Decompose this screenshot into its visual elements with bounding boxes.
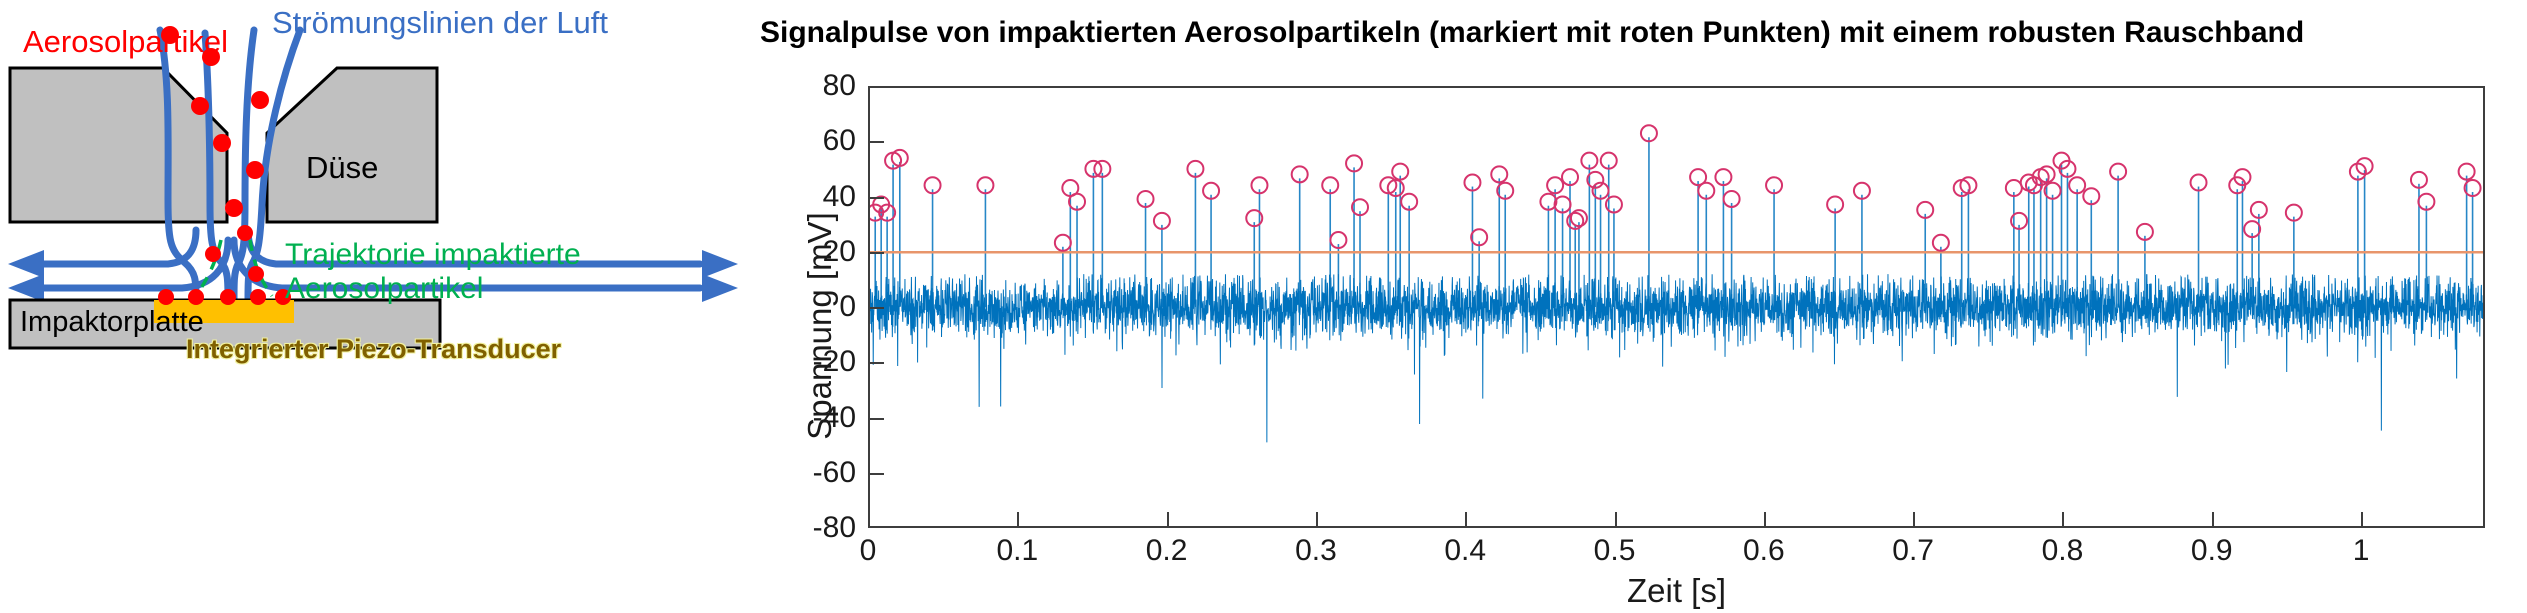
arrow-right-upper bbox=[702, 250, 738, 278]
x-tick-label: 0.7 bbox=[1892, 534, 1934, 568]
y-tick-mark bbox=[868, 307, 884, 309]
nozzle-right-body bbox=[267, 68, 437, 222]
x-tick-mark bbox=[1764, 512, 1766, 528]
arrow-left-lower bbox=[8, 274, 44, 302]
aerosol-particle bbox=[191, 97, 209, 115]
pulse-stems bbox=[875, 137, 2472, 307]
x-tick-mark bbox=[1017, 512, 1019, 528]
aerosol-particle bbox=[188, 289, 204, 305]
x-tick-label: 0.1 bbox=[996, 534, 1038, 568]
aerosol-particle bbox=[251, 91, 269, 109]
label-trajectory-line2: Aerosolpartikel bbox=[285, 272, 483, 306]
noise-signal-trace bbox=[870, 274, 2483, 442]
x-tick-label: 0.8 bbox=[2042, 534, 2084, 568]
chart-title: Signalpulse von impaktierten Aerosolpart… bbox=[760, 16, 2527, 50]
x-tick-label: 0.9 bbox=[2191, 534, 2233, 568]
x-tick-mark bbox=[2361, 512, 2363, 528]
x-tick-label: 0.4 bbox=[1444, 534, 1486, 568]
y-axis-label: Spannung [mV] bbox=[801, 116, 839, 536]
y-tick-mark bbox=[868, 362, 884, 364]
x-tick-mark bbox=[2212, 512, 2214, 528]
x-axis-label: Zeit [s] bbox=[868, 572, 2485, 610]
x-tick-mark bbox=[1465, 512, 1467, 528]
aerosol-particle bbox=[248, 266, 264, 282]
y-tick-mark bbox=[868, 141, 884, 143]
x-tick-label: 0.6 bbox=[1743, 534, 1785, 568]
aerosol-particle bbox=[158, 289, 174, 305]
aerosol-particle bbox=[213, 134, 231, 152]
nozzle-left-body bbox=[10, 68, 227, 222]
label-piezo-transducer: Integrierter Piezo-Transducer bbox=[186, 334, 561, 365]
plot-area bbox=[868, 86, 2485, 528]
aerosol-particle bbox=[246, 161, 264, 179]
x-tick-label: 0.3 bbox=[1295, 534, 1337, 568]
aerosol-particle bbox=[225, 199, 243, 217]
y-tick-mark bbox=[868, 418, 884, 420]
x-tick-label: 1 bbox=[2353, 534, 2370, 568]
y-tick-label: 0 bbox=[839, 290, 856, 324]
noise-polyline bbox=[870, 274, 2483, 442]
impactor-schematic: Aerosolpartikel Strömungslinien der Luft… bbox=[0, 0, 760, 613]
aerosol-particle bbox=[220, 289, 236, 305]
peak-markers bbox=[870, 125, 2481, 250]
aerosol-particle bbox=[205, 246, 221, 262]
arrow-left-upper bbox=[8, 250, 44, 278]
x-tick-label: 0 bbox=[860, 534, 877, 568]
arrow-right-lower bbox=[702, 274, 738, 302]
x-tick-mark bbox=[1615, 512, 1617, 528]
label-aerosol-particles: Aerosolpartikel bbox=[23, 24, 228, 60]
signal-chart: Signalpulse von impaktierten Aerosolpart… bbox=[760, 0, 2527, 613]
figure-root: Aerosolpartikel Strömungslinien der Luft… bbox=[0, 0, 2527, 613]
label-trajectory-line1: Trajektorie impaktierte bbox=[285, 238, 581, 272]
label-impactor-plate: Impaktorplatte bbox=[20, 306, 204, 339]
aerosol-particle bbox=[237, 225, 253, 241]
x-tick-mark bbox=[1316, 512, 1318, 528]
aerosol-particle bbox=[250, 289, 266, 305]
y-tick-label: 80 bbox=[823, 69, 856, 103]
label-nozzle: Düse bbox=[306, 150, 378, 186]
x-tick-mark bbox=[2062, 512, 2064, 528]
x-tick-mark bbox=[1167, 512, 1169, 528]
y-tick-mark bbox=[868, 197, 884, 199]
y-tick-mark bbox=[868, 473, 884, 475]
x-tick-mark bbox=[1913, 512, 1915, 528]
x-tick-label: 0.2 bbox=[1146, 534, 1188, 568]
y-tick-mark bbox=[868, 252, 884, 254]
x-tick-label: 0.5 bbox=[1594, 534, 1636, 568]
label-air-streamlines: Strömungslinien der Luft bbox=[272, 5, 608, 41]
